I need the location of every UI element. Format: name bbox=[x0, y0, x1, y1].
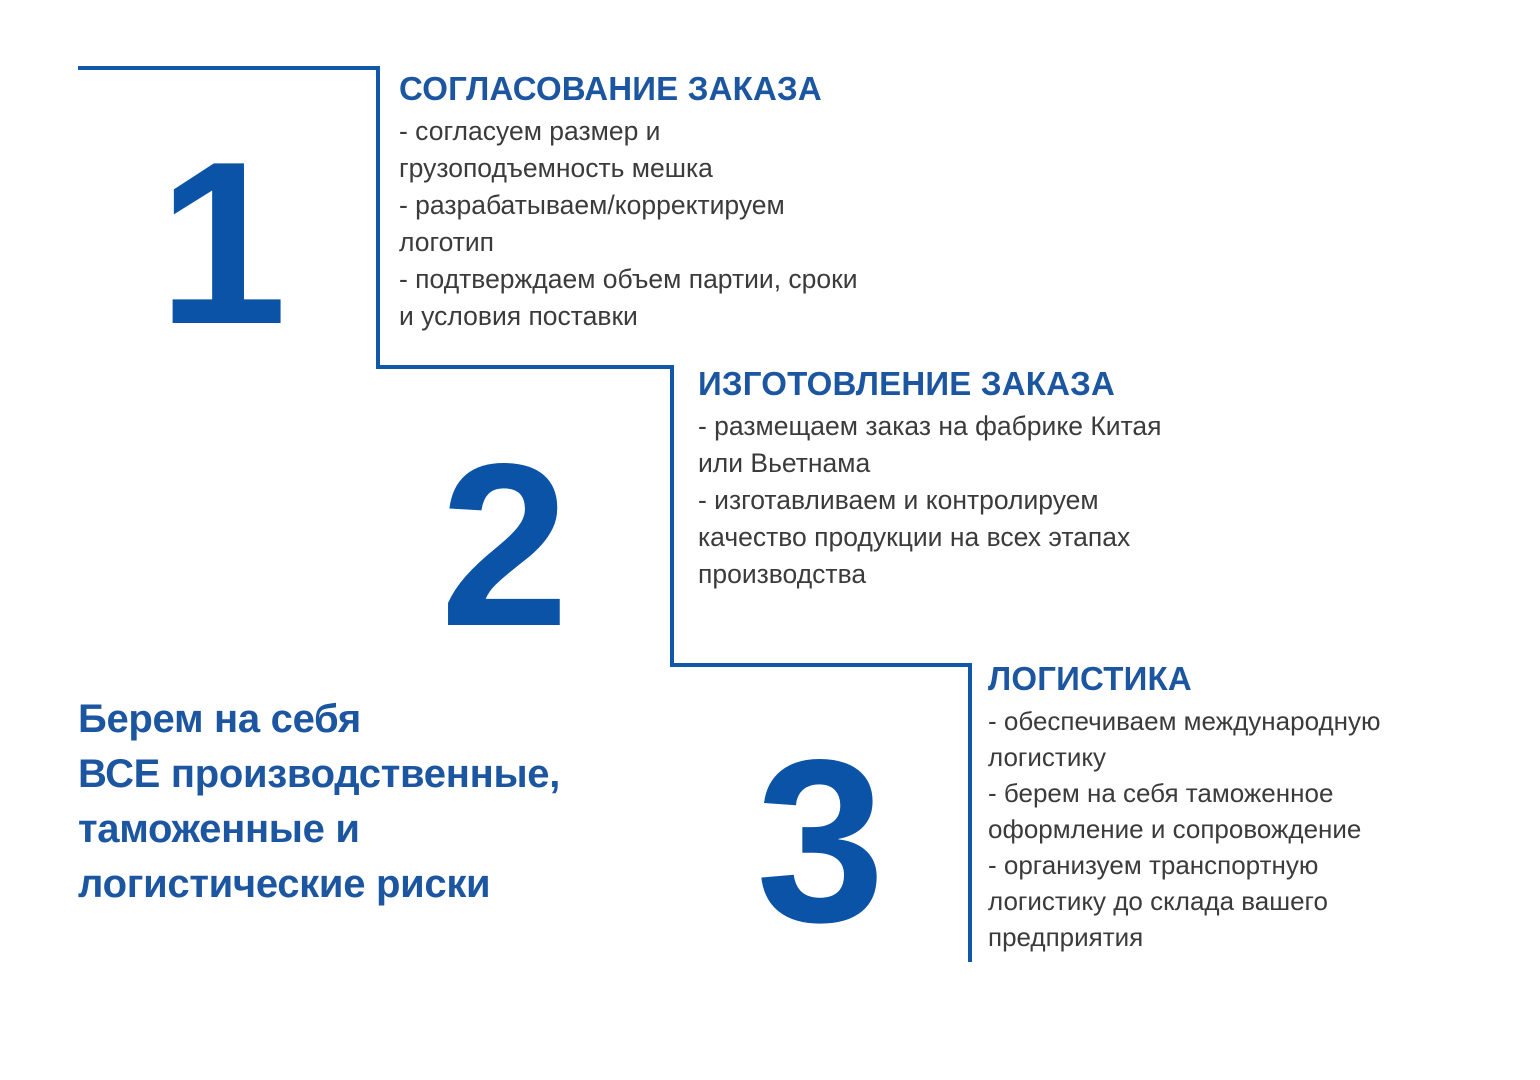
step-3-body-line: предприятия bbox=[988, 919, 1508, 955]
step-3-content: ЛОГИСТИКА - обеспечиваем международную л… bbox=[988, 662, 1508, 955]
step-1-top-line bbox=[78, 66, 380, 70]
tagline-line: ВСЕ производственные, bbox=[78, 747, 738, 802]
step-1-vertical-line bbox=[376, 66, 380, 367]
step-1-content: СОГЛАСОВАНИЕ ЗАКАЗА - согласуем размер и… bbox=[399, 72, 999, 335]
step-1-body-line: и условия поставки bbox=[399, 298, 999, 335]
step-2-number: 2 bbox=[440, 430, 567, 662]
step-2-body-line: - размещаем заказ на фабрике Китая bbox=[698, 408, 1298, 445]
step-3-body-line: логистику bbox=[988, 739, 1508, 775]
step-1-body-line: - разрабатываем/корректируем bbox=[399, 187, 999, 224]
tagline-line: Берем на себя bbox=[78, 692, 738, 747]
process-infographic: 1 2 3 СОГЛАСОВАНИЕ ЗАКАЗА - согласуем ра… bbox=[0, 0, 1540, 1080]
step-3-vertical-line bbox=[968, 663, 972, 962]
step-2-top-line bbox=[376, 365, 674, 369]
step-2-body-line: производства bbox=[698, 556, 1298, 593]
tagline-line: логистические риски bbox=[78, 857, 738, 912]
step-3-body-line: - обеспечиваем международную bbox=[988, 703, 1508, 739]
step-1-body: - согласуем размер и грузоподъемность ме… bbox=[399, 113, 999, 335]
step-1-heading: СОГЛАСОВАНИЕ ЗАКАЗА bbox=[399, 72, 999, 107]
step-2-content: ИЗГОТОВЛЕНИЕ ЗАКАЗА - размещаем заказ на… bbox=[698, 367, 1298, 593]
step-1-body-line: - подтверждаем объем партии, сроки bbox=[399, 261, 999, 298]
step-2-heading: ИЗГОТОВЛЕНИЕ ЗАКАЗА bbox=[698, 367, 1298, 402]
step-3-body-line: логистику до склада вашего bbox=[988, 883, 1508, 919]
step-2-body-line: - изготавливаем и контролируем bbox=[698, 482, 1298, 519]
step-2-body-line: или Вьетнама bbox=[698, 445, 1298, 482]
step-3-body-line: - организуем транспортную bbox=[988, 847, 1508, 883]
step-1-body-line: грузоподъемность мешка bbox=[399, 150, 999, 187]
tagline: Берем на себя ВСЕ производственные, тамо… bbox=[78, 692, 738, 912]
step-3-body-line: - берем на себя таможенное bbox=[988, 775, 1508, 811]
step-2-body-line: качество продукции на всех этапах bbox=[698, 519, 1298, 556]
step-1-number: 1 bbox=[158, 128, 285, 360]
step-3-number: 3 bbox=[756, 726, 883, 958]
step-3-top-line bbox=[670, 663, 972, 667]
step-2-vertical-line bbox=[670, 365, 674, 665]
step-3-body: - обеспечиваем международную логистику -… bbox=[988, 703, 1508, 955]
step-1-body-line: логотип bbox=[399, 224, 999, 261]
step-3-heading: ЛОГИСТИКА bbox=[988, 662, 1508, 697]
step-3-body-line: оформление и сопровождение bbox=[988, 811, 1508, 847]
step-1-body-line: - согласуем размер и bbox=[399, 113, 999, 150]
step-2-body: - размещаем заказ на фабрике Китая или В… bbox=[698, 408, 1298, 593]
tagline-line: таможенные и bbox=[78, 802, 738, 857]
